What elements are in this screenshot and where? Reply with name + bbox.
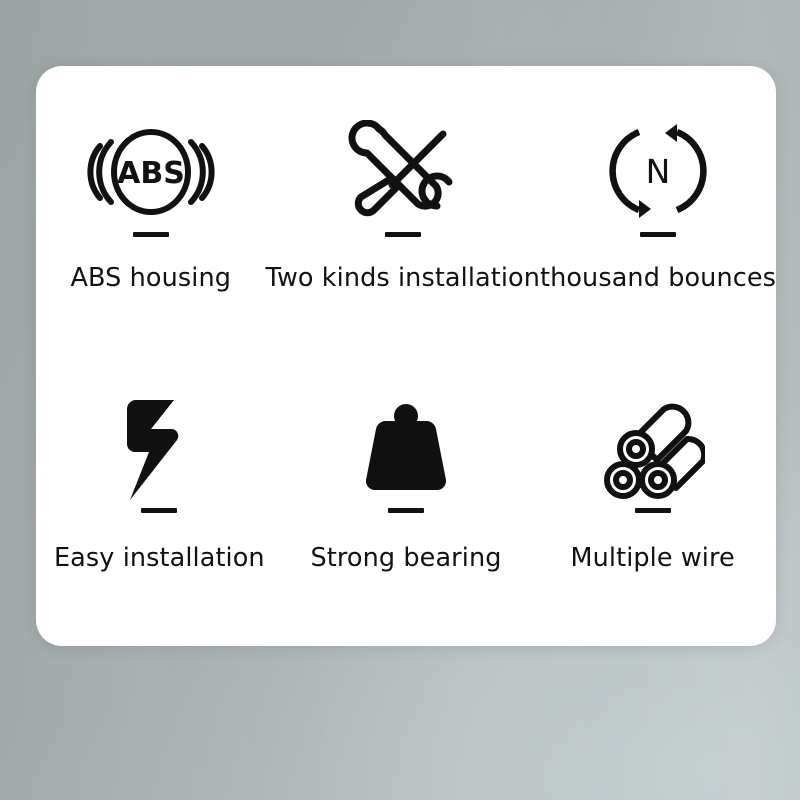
feature-item-multiple-wire: Multiple wire [529, 396, 776, 573]
icon-container [348, 120, 458, 224]
feature-item-strong-bearing: Strong bearing [283, 396, 530, 573]
abs-icon-text: ABS [117, 156, 185, 191]
item-divider [141, 508, 177, 513]
feature-row-bottom: Easy installation Strong bearing [36, 370, 776, 646]
feature-card: ABS ABS housing [36, 66, 776, 646]
feature-item-thousand-bounces: N thousand bounces [540, 120, 776, 293]
feature-label: Two kinds installation [265, 263, 540, 293]
item-divider [635, 508, 671, 513]
cycle-arrows-n-icon: N [603, 120, 713, 224]
item-divider [388, 508, 424, 513]
feature-label: Multiple wire [571, 543, 735, 573]
feature-label: Strong bearing [311, 543, 502, 573]
feature-item-two-kinds-installation: Two kinds installation [265, 120, 540, 293]
icon-container: N [603, 120, 713, 224]
icon-container [601, 396, 705, 504]
weight-icon [353, 396, 459, 504]
page-root: ABS ABS housing [0, 0, 800, 800]
feature-item-abs-housing: ABS ABS housing [36, 120, 265, 293]
abs-circle-icon: ABS [87, 120, 215, 224]
wire-bundle-icon [601, 396, 705, 504]
feature-label: ABS housing [70, 263, 231, 293]
lightning-bolt-icon [114, 396, 204, 504]
item-divider [385, 232, 421, 237]
icon-container: ABS [87, 120, 215, 224]
wrench-screwdriver-icon [348, 120, 458, 224]
item-divider [133, 232, 169, 237]
icon-container [353, 396, 459, 504]
icon-container [114, 396, 204, 504]
feature-item-easy-installation: Easy installation [36, 396, 283, 573]
item-divider [640, 232, 676, 237]
feature-label: thousand bounces [540, 263, 776, 293]
cycle-icon-text: N [646, 152, 671, 191]
feature-label: Easy installation [54, 543, 265, 573]
feature-row-top: ABS ABS housing [36, 66, 776, 370]
